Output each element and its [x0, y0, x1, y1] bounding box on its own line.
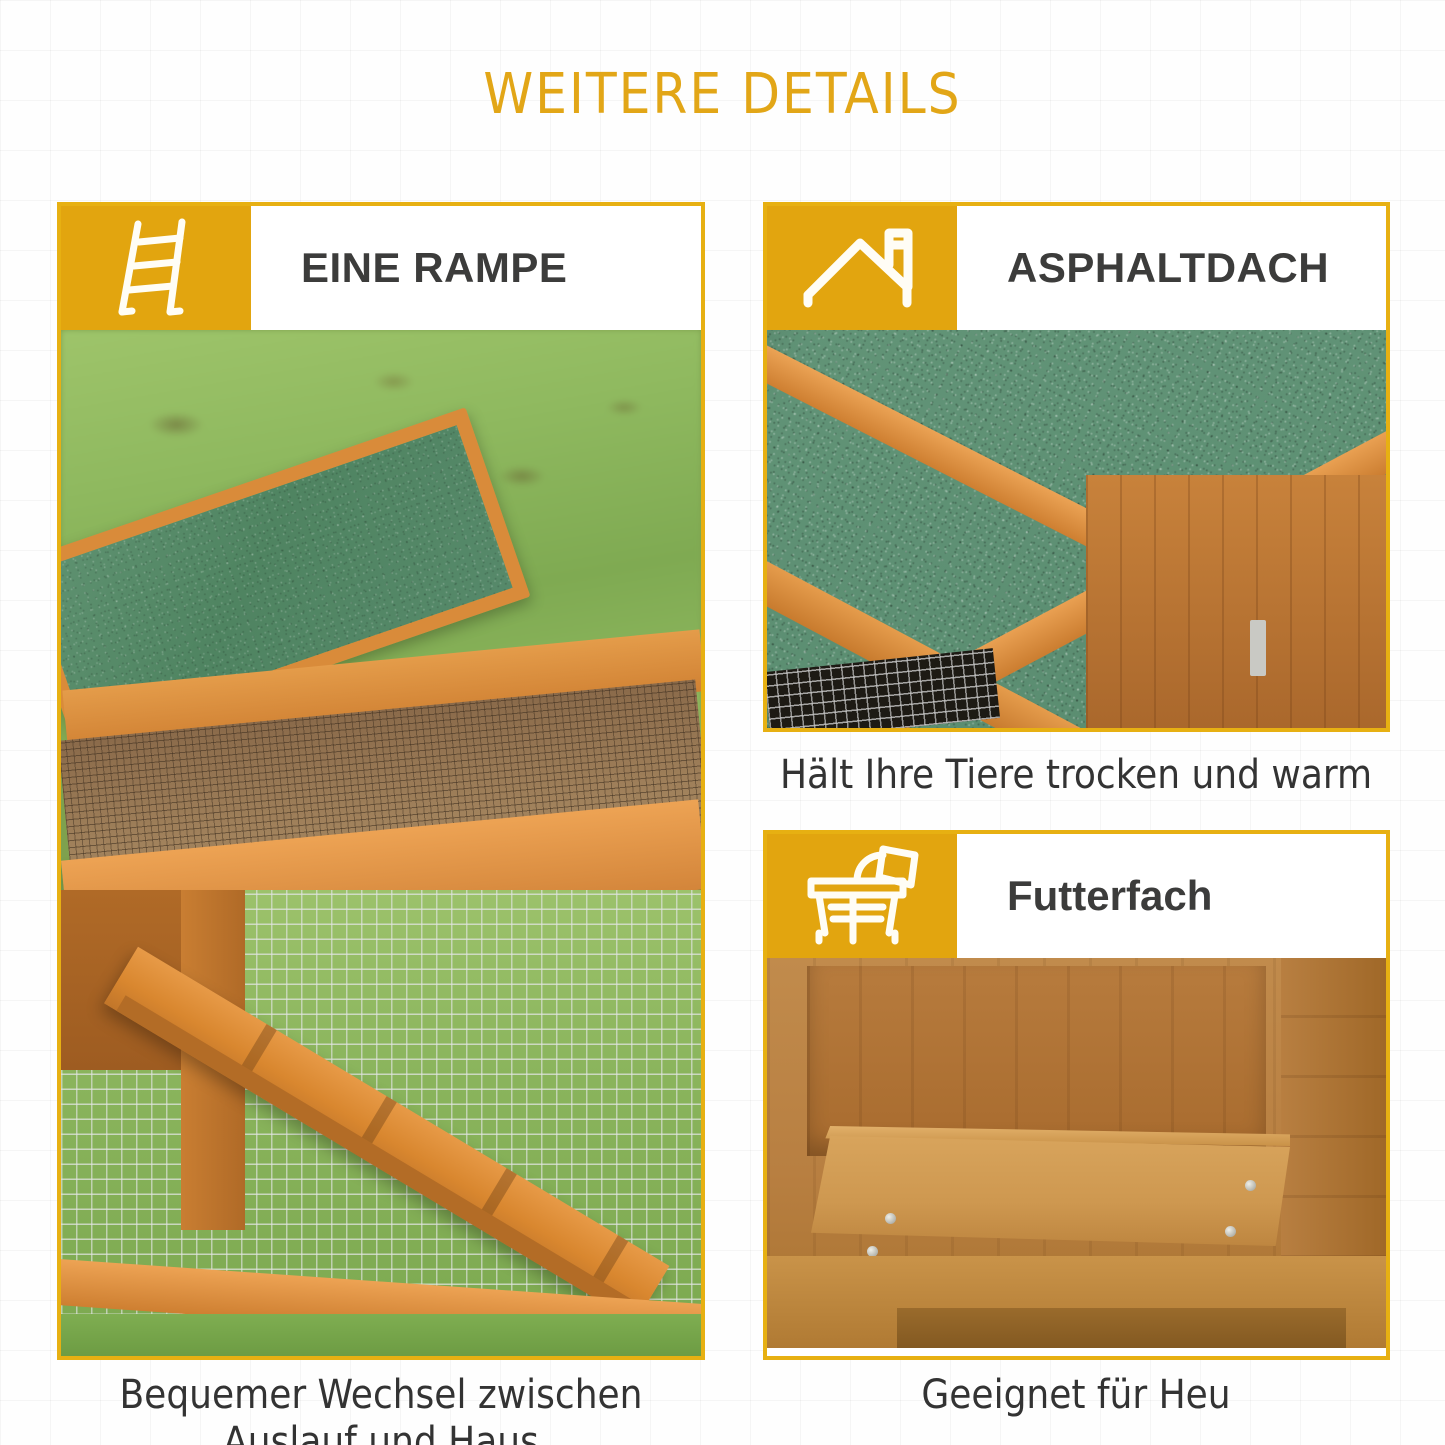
panel-feeder: Futterfach — [763, 830, 1390, 1360]
panel-roof-header: ASPHALTDACH — [767, 206, 1386, 330]
ladder-icon — [61, 206, 251, 330]
panel-ramp-title: EINE RAMPE — [251, 206, 701, 330]
caption-line-1: Geeignet für Heu — [740, 1372, 1412, 1419]
panel-roof: ASPHALTDACH — [763, 202, 1390, 732]
caption-line-2: Auslauf und Haus — [57, 1419, 705, 1445]
panel-ramp-header: EINE RAMPE — [61, 206, 701, 330]
roof-with-chimney-icon — [767, 206, 957, 330]
panel-ramp: EINE RAMPE — [57, 202, 705, 1360]
panel-ramp-photo — [61, 330, 701, 1360]
panel-feeder-photo — [767, 958, 1386, 1348]
panel-feeder-caption: Geeignet für Heu — [740, 1372, 1412, 1419]
panel-feeder-title: Futterfach — [957, 834, 1386, 958]
page-title: WEITERE DETAILS — [0, 62, 1445, 127]
panel-ramp-caption: Bequemer Wechsel zwischen Auslauf und Ha… — [57, 1372, 705, 1445]
feeder-trough-icon — [767, 834, 957, 958]
infographic-page: WEITERE DETAILS EINE RAMPE — [0, 0, 1445, 1445]
panel-roof-title: ASPHALTDACH — [957, 206, 1386, 330]
caption-line-1: Bequemer Wechsel zwischen — [57, 1372, 705, 1419]
panel-feeder-header: Futterfach — [767, 834, 1386, 958]
panel-roof-caption: Hält Ihre Tiere trocken und warm — [740, 752, 1412, 799]
caption-line-1: Hält Ihre Tiere trocken und warm — [740, 752, 1412, 799]
panel-roof-photo — [767, 330, 1386, 730]
